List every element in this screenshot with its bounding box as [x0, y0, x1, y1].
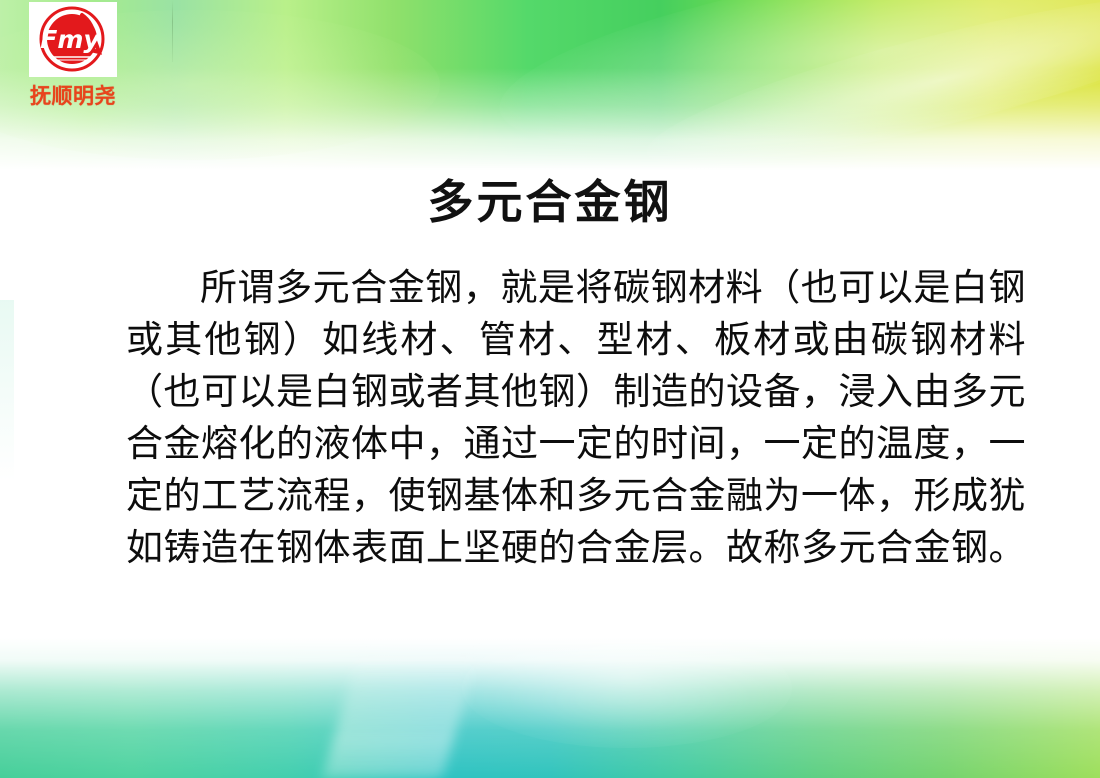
slide-body-paragraph: 所谓多元合金钢，就是将碳钢材料（也可以是白钢或其他钢）如线材、管材、型材、板材或…: [126, 262, 1026, 574]
slide: Fmy 抚顺明尧 多元合金钢 所谓多元合金钢，就是将碳钢材料（也可以是白钢或其他…: [0, 0, 1100, 778]
slide-content: 多元合金钢 所谓多元合金钢，就是将碳钢材料（也可以是白钢或其他钢）如线材、管材、…: [0, 0, 1100, 778]
company-logo: Fmy 抚顺明尧: [8, 2, 138, 110]
logo-plate: Fmy: [29, 2, 117, 77]
svg-text:Fmy: Fmy: [40, 25, 101, 54]
fmy-circle-icon: Fmy: [36, 5, 110, 75]
logo-caption: 抚顺明尧: [8, 80, 138, 110]
slide-title: 多元合金钢: [0, 166, 1100, 232]
